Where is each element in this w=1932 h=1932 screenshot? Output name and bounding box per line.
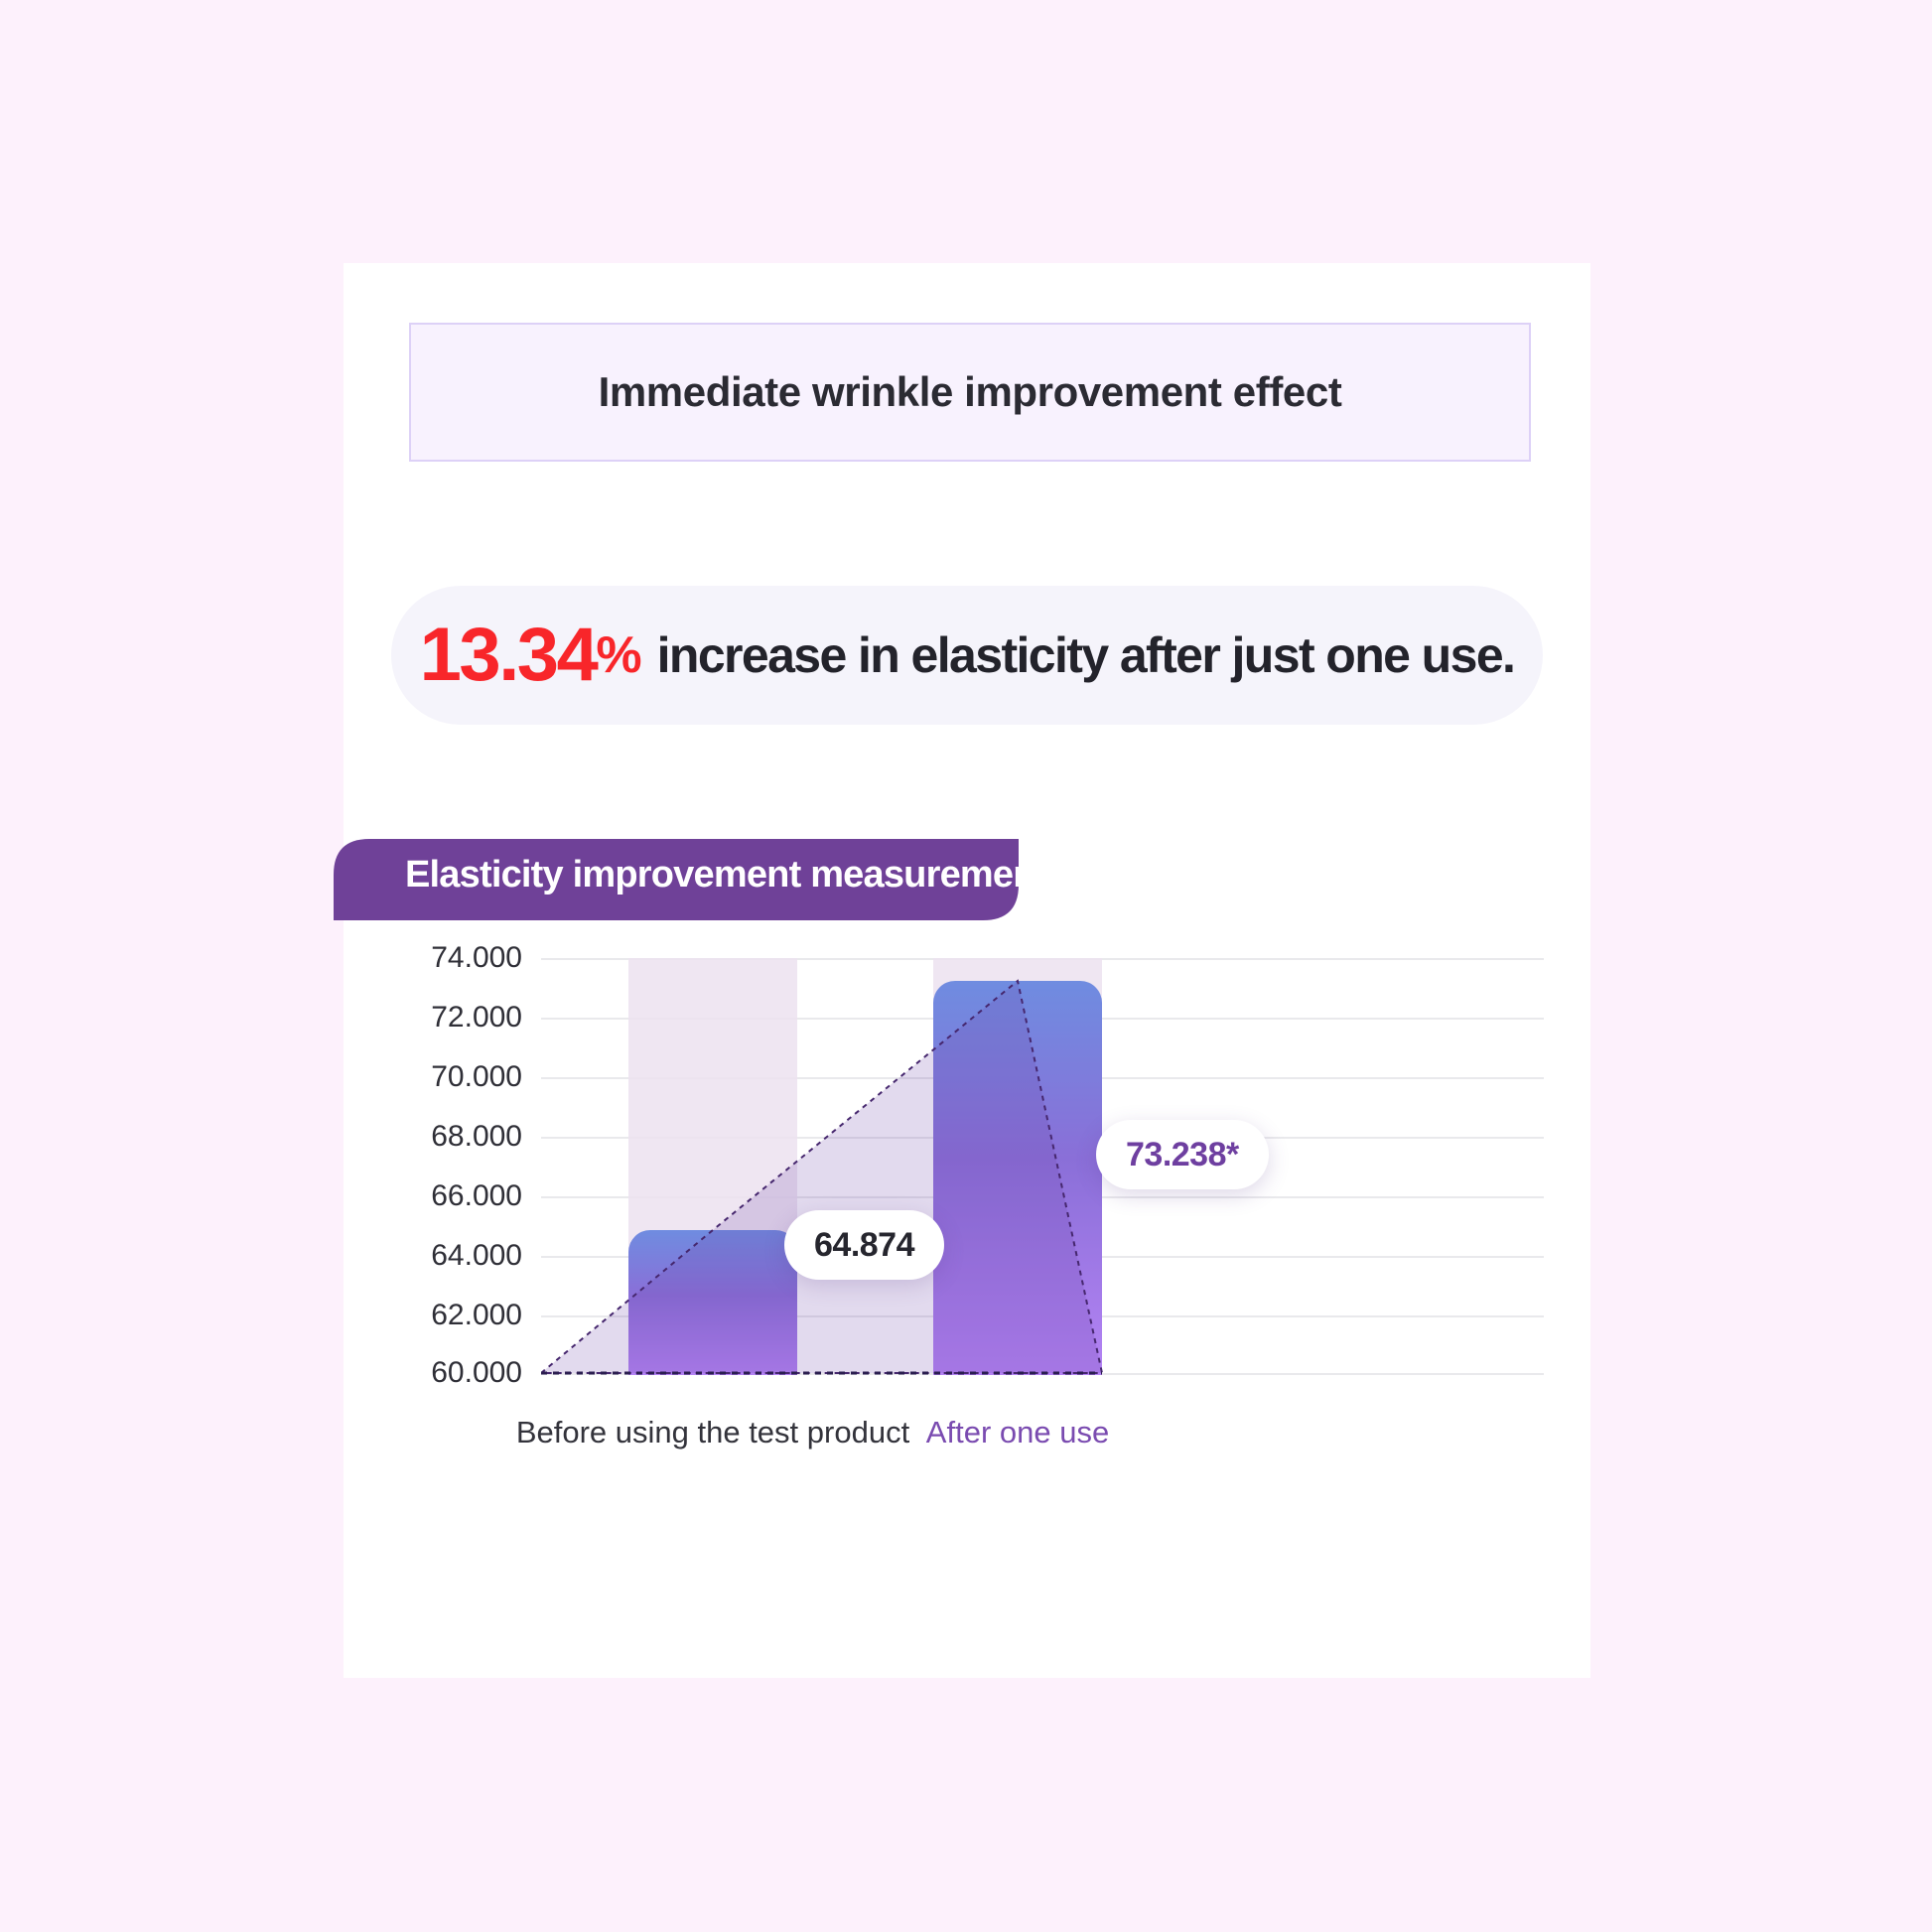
bar-after[interactable] (933, 981, 1102, 1375)
y-tick-label: 66.000 (431, 1179, 522, 1213)
bar-before[interactable] (628, 1230, 797, 1375)
stat-banner: 13.34 % increase in elasticity after jus… (391, 586, 1543, 725)
data-label-before: 64.874 (784, 1210, 944, 1280)
page-title: Immediate wrinkle improvement effect (599, 368, 1342, 416)
y-tick-label: 62.000 (431, 1299, 522, 1332)
stat-value: 13.34 (420, 618, 597, 693)
chart-title: Elasticity improvement measurement (405, 854, 1047, 897)
y-tick-label: 64.000 (431, 1239, 522, 1273)
chart: 74.000 72.000 70.000 68.000 66.000 64.00… (344, 958, 1590, 1613)
x-tick-label-after: After one use (926, 1415, 1109, 1450)
content-card: Immediate wrinkle improvement effect 13.… (344, 263, 1590, 1678)
y-tick-label: 72.000 (431, 1001, 522, 1035)
title-box: Immediate wrinkle improvement effect (409, 323, 1531, 462)
page-root: Immediate wrinkle improvement effect 13.… (0, 0, 1932, 1932)
stat-percent-symbol: % (596, 629, 640, 681)
y-tick-label: 74.000 (431, 941, 522, 975)
x-tick-label-before: Before using the test product (516, 1415, 909, 1450)
plot-grid (541, 958, 1544, 1375)
y-tick-label: 60.000 (431, 1356, 522, 1390)
y-tick-label: 70.000 (431, 1060, 522, 1094)
y-tick-label: 68.000 (431, 1120, 522, 1154)
data-label-after: 73.238* (1096, 1120, 1269, 1189)
stat-description: increase in elasticity after just one us… (657, 630, 1515, 680)
